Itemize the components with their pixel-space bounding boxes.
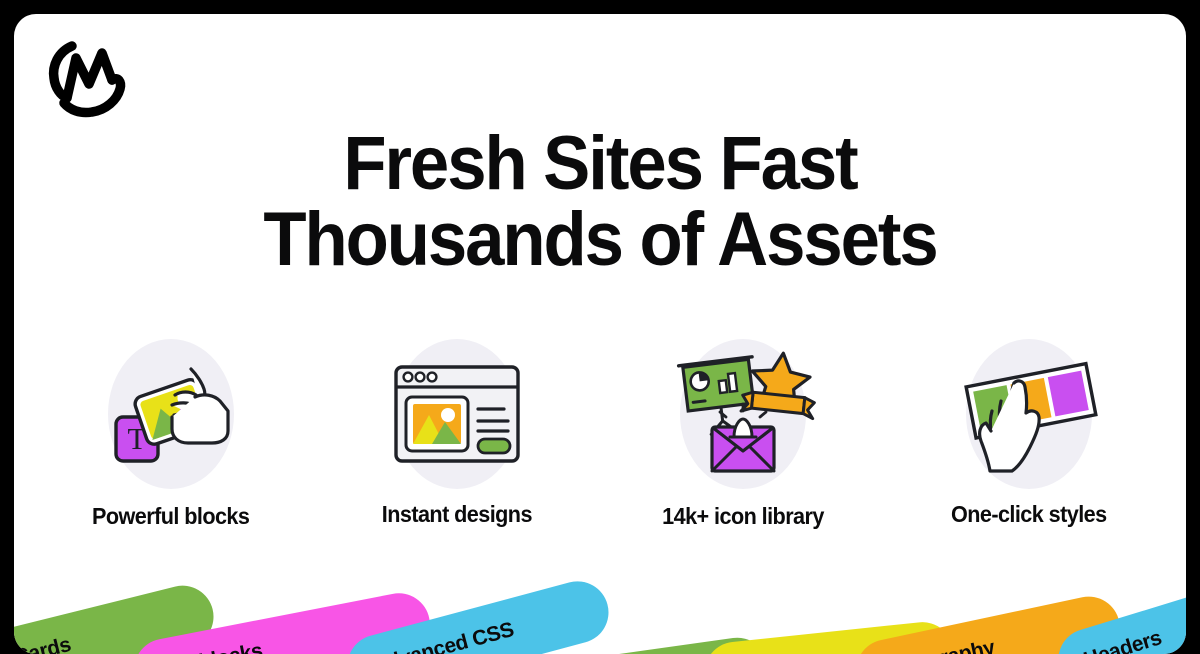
asset-tag-label: Cards (14, 633, 73, 654)
feature-item-icon-library[interactable]: 14k+ icon library (600, 339, 886, 530)
feature-label: Instant designs (382, 501, 532, 528)
drag-image-card-icon: T (96, 339, 246, 489)
feature-list: T (28, 339, 1172, 530)
feature-item-powerful-blocks[interactable]: T (28, 339, 314, 530)
feature-item-one-click-styles[interactable]: One-click styles (886, 339, 1172, 530)
feature-item-instant-designs[interactable]: Instant designs (314, 339, 600, 530)
feature-label: One-click styles (951, 501, 1107, 528)
hand-color-swatches-icon (954, 339, 1104, 489)
feature-label: Powerful blocks (92, 503, 249, 530)
asset-tag-label: 40+ blocks (158, 639, 265, 654)
headline-line-2: Thousands of Assets (55, 202, 1145, 278)
cm-monogram-logo[interactable] (36, 26, 140, 126)
page-title: Fresh Sites Fast Thousands of Assets (55, 126, 1145, 278)
browser-layout-icon (382, 339, 532, 489)
asset-tag-label: Typography (880, 636, 997, 654)
asset-tag-strip: Cards40+ blocksAdvanced CSSGridsSections… (14, 574, 1186, 654)
presentation-star-envelope-icon (668, 339, 818, 489)
promo-card: Fresh Sites Fast Thousands of Assets T (14, 14, 1186, 654)
asset-tag-label: Headers (1081, 626, 1165, 654)
black-frame: Fresh Sites Fast Thousands of Assets T (0, 0, 1200, 627)
headline-line-1: Fresh Sites Fast (55, 126, 1145, 202)
feature-label: 14k+ icon library (662, 503, 824, 530)
